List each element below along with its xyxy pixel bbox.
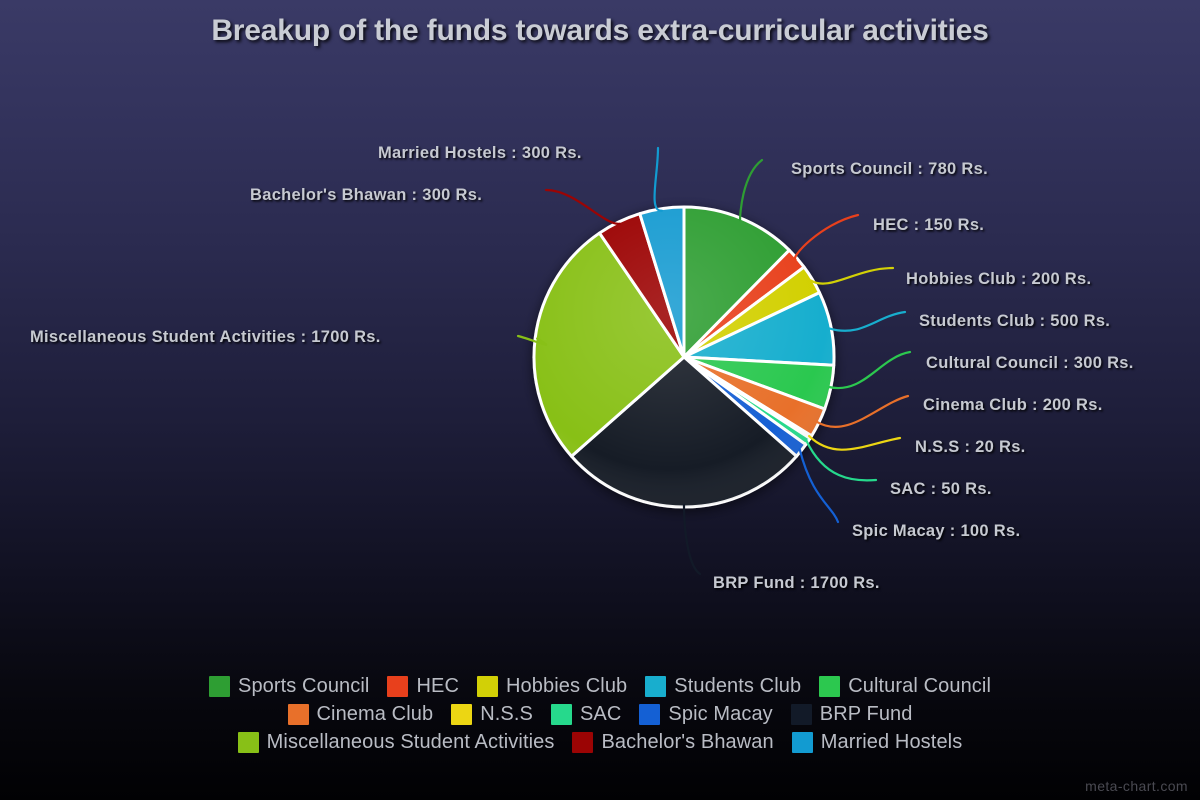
callout-brp-fund: BRP Fund : 1700 Rs. [713, 574, 880, 593]
leader-line [829, 312, 905, 331]
pie-chart-figure: Breakup of the funds towards extra-curri… [0, 0, 1200, 800]
callout-bachelors-bhawan: Bachelor's Bhawan : 300 Rs. [250, 186, 482, 205]
legend-item-label: Cinema Club [317, 703, 434, 726]
leader-line [795, 215, 858, 260]
callout-cinema-club: Cinema Club : 200 Rs. [923, 396, 1103, 415]
leader-line [684, 505, 700, 574]
leader-line [740, 160, 762, 220]
callout-hec: HEC : 150 Rs. [873, 216, 984, 235]
legend-swatch-icon [791, 704, 812, 725]
legend-swatch-icon [209, 676, 230, 697]
legend-swatch-icon [477, 676, 498, 697]
callout-misc-student-activities: Miscellaneous Student Activities : 1700 … [30, 328, 381, 347]
legend-item-label: Students Club [674, 675, 801, 698]
legend-item[interactable]: Students Club [645, 675, 801, 698]
callout-spic-macay: Spic Macay : 100 Rs. [852, 522, 1020, 541]
legend-swatch-icon [792, 732, 813, 753]
legend-item-label: Sports Council [238, 675, 369, 698]
callout-nss: N.S.S : 20 Rs. [915, 438, 1026, 457]
legend-item-label: Hobbies Club [506, 675, 627, 698]
legend-swatch-icon [288, 704, 309, 725]
leader-line [817, 396, 908, 427]
legend-swatch-icon [451, 704, 472, 725]
callout-cultural-council: Cultural Council : 300 Rs. [926, 354, 1134, 373]
callout-married-hostels: Married Hostels : 300 Rs. [378, 144, 582, 163]
legend-item-label: Cultural Council [848, 675, 991, 698]
legend-item-label: SAC [580, 703, 621, 726]
leader-line [809, 436, 900, 450]
callout-students-club: Students Club : 500 Rs. [919, 312, 1110, 331]
leader-line [829, 352, 910, 388]
legend-item[interactable]: Miscellaneous Student Activities [238, 731, 555, 754]
callout-sac: SAC : 50 Rs. [890, 480, 992, 499]
legend-item[interactable]: Sports Council [209, 675, 369, 698]
watermark: meta-chart.com [1085, 778, 1188, 794]
leader-line [811, 268, 893, 284]
legend-item-label: BRP Fund [820, 703, 913, 726]
legend-row: Sports CouncilHECHobbies ClubStudents Cl… [60, 672, 1140, 700]
legend-item-label: HEC [416, 675, 459, 698]
legend-swatch-icon [572, 732, 593, 753]
leader-line [655, 148, 662, 211]
legend-item[interactable]: Bachelor's Bhawan [572, 731, 773, 754]
pie-slices-group [534, 207, 834, 507]
legend-row: Cinema ClubN.S.SSACSpic MacayBRP Fund [60, 700, 1140, 728]
legend-swatch-icon [238, 732, 259, 753]
legend-item[interactable]: BRP Fund [791, 703, 913, 726]
legend-item-label: Married Hostels [821, 731, 963, 754]
legend-swatch-icon [645, 676, 666, 697]
legend-item-label: N.S.S [480, 703, 533, 726]
legend-item[interactable]: Spic Macay [639, 703, 772, 726]
legend-swatch-icon [551, 704, 572, 725]
legend-item[interactable]: Married Hostels [792, 731, 963, 754]
legend-item-label: Miscellaneous Student Activities [267, 731, 555, 754]
legend-item-label: Spic Macay [668, 703, 772, 726]
legend-item-label: Bachelor's Bhawan [601, 731, 773, 754]
legend-swatch-icon [819, 676, 840, 697]
legend-item[interactable]: Cinema Club [288, 703, 434, 726]
chart-legend: Sports CouncilHECHobbies ClubStudents Cl… [0, 672, 1200, 756]
legend-item[interactable]: HEC [387, 675, 459, 698]
callout-sports-council: Sports Council : 780 Rs. [791, 160, 988, 179]
legend-swatch-icon [639, 704, 660, 725]
legend-item[interactable]: Hobbies Club [477, 675, 627, 698]
legend-item[interactable]: SAC [551, 703, 621, 726]
callout-hobbies-club: Hobbies Club : 200 Rs. [906, 270, 1091, 289]
leader-line [546, 190, 620, 224]
legend-swatch-icon [387, 676, 408, 697]
legend-item[interactable]: Cultural Council [819, 675, 991, 698]
legend-item[interactable]: N.S.S [451, 703, 533, 726]
legend-row: Miscellaneous Student ActivitiesBachelor… [60, 728, 1140, 756]
